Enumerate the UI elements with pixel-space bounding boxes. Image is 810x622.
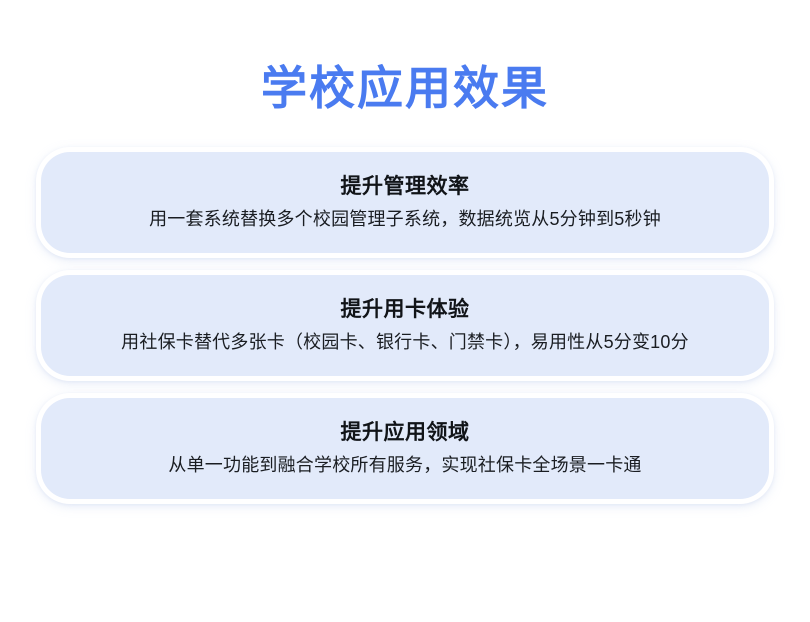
benefit-card-3-title: 提升应用领域 <box>341 419 470 447</box>
slide-page: 学校应用效果 提升管理效率 用一套系统替换多个校园管理子系统，数据统览从5分钟到… <box>0 0 810 622</box>
benefit-card-2-title: 提升用卡体验 <box>341 296 470 324</box>
benefit-card-2: 提升用卡体验 用社保卡替代多张卡（校园卡、银行卡、门禁卡），易用性从5分变10分 <box>36 270 774 381</box>
benefit-card-2-description: 用社保卡替代多张卡（校园卡、银行卡、门禁卡），易用性从5分变10分 <box>121 329 689 355</box>
benefit-card-1-description: 用一套系统替换多个校园管理子系统，数据统览从5分钟到5秒钟 <box>149 206 661 232</box>
benefit-card-2-body: 提升用卡体验 用社保卡替代多张卡（校园卡、银行卡、门禁卡），易用性从5分变10分 <box>41 275 769 376</box>
benefit-card-1-body: 提升管理效率 用一套系统替换多个校园管理子系统，数据统览从5分钟到5秒钟 <box>41 152 769 253</box>
benefit-card-list: 提升管理效率 用一套系统替换多个校园管理子系统，数据统览从5分钟到5秒钟 提升用… <box>36 147 774 516</box>
benefit-card-3-body: 提升应用领域 从单一功能到融合学校所有服务，实现社保卡全场景一卡通 <box>41 398 769 499</box>
benefit-card-1: 提升管理效率 用一套系统替换多个校园管理子系统，数据统览从5分钟到5秒钟 <box>36 147 774 258</box>
benefit-card-3: 提升应用领域 从单一功能到融合学校所有服务，实现社保卡全场景一卡通 <box>36 393 774 504</box>
page-title: 学校应用效果 <box>0 60 810 116</box>
benefit-card-3-description: 从单一功能到融合学校所有服务，实现社保卡全场景一卡通 <box>168 452 641 478</box>
benefit-card-1-title: 提升管理效率 <box>341 173 470 201</box>
